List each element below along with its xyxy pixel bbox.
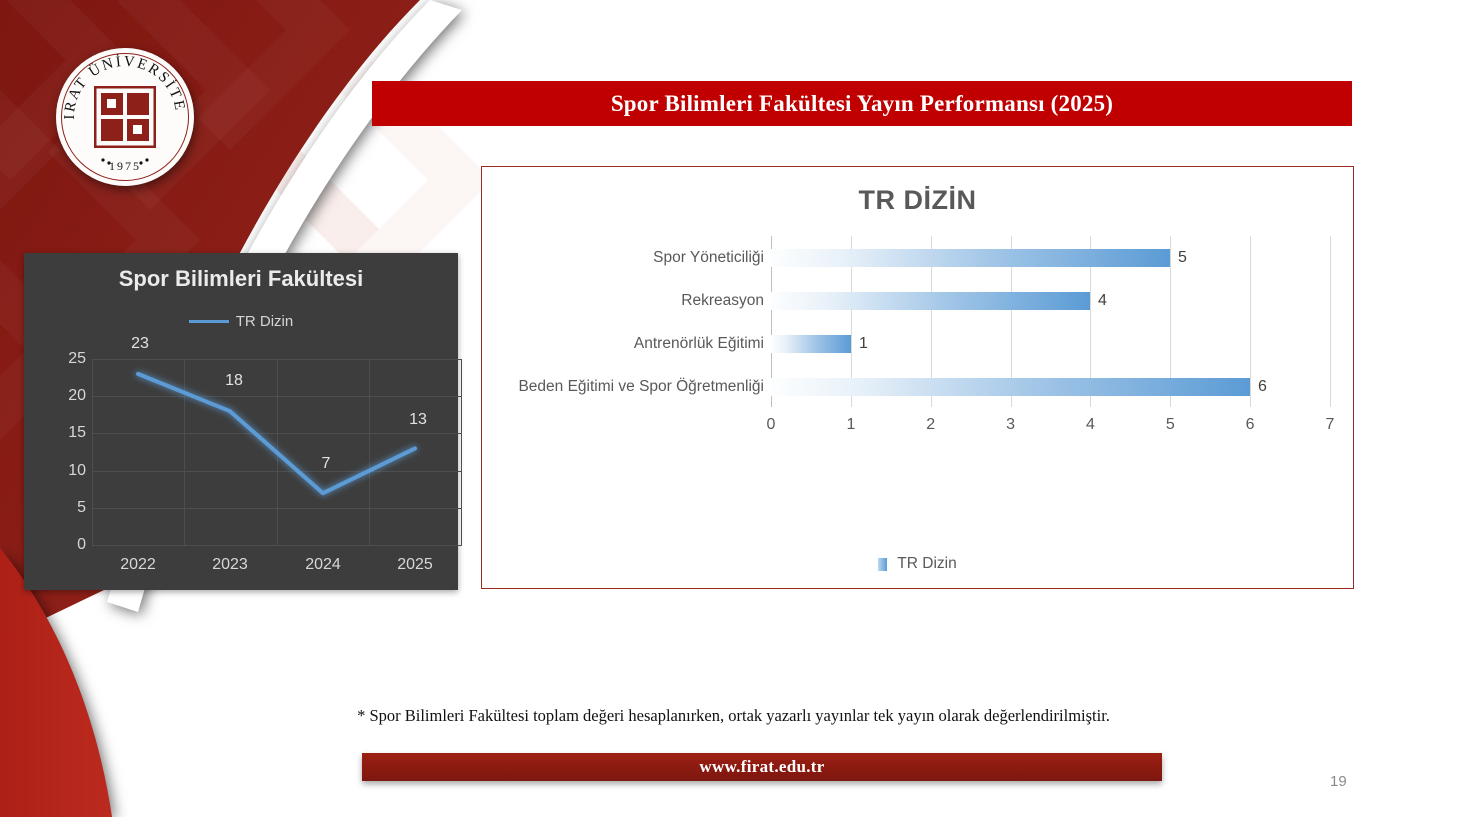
logo-year: 1975 xyxy=(56,159,194,174)
y-tick-label: 20 xyxy=(40,387,86,405)
x-tick-label: 0 xyxy=(751,416,791,434)
x-tick-label: 2025 xyxy=(370,556,460,574)
line-chart-card: Spor Bilimleri Fakültesi TR Dizin xyxy=(24,253,458,590)
bar-legend-swatch-icon xyxy=(878,558,887,571)
footer-bar: www.firat.edu.tr xyxy=(362,753,1162,781)
bar-rekreasyon xyxy=(771,292,1090,310)
slide-title-bar: Spor Bilimleri Fakültesi Yayın Performan… xyxy=(372,81,1352,126)
bar-chart-plot: 5 4 1 6 Spor Yöneticiliği Rekreasyon Ant… xyxy=(771,236,1330,407)
bar-chart-area: 5 4 1 6 Spor Yöneticiliği Rekreasyon Ant… xyxy=(482,167,1353,417)
university-logo: FIRAT ÜNİVERSİTESİ 1975 xyxy=(56,48,194,186)
logo-emblem-icon xyxy=(94,86,156,148)
x-tick-label: 6 xyxy=(1230,416,1270,434)
data-label: 4 xyxy=(1098,292,1107,310)
x-tick-label: 7 xyxy=(1310,416,1350,434)
page-title: Spor Bilimleri Fakültesi Yayın Performan… xyxy=(611,91,1113,117)
line-chart-series xyxy=(92,359,462,546)
footnote: * Spor Bilimleri Fakültesi toplam değeri… xyxy=(0,706,1467,726)
footer-url: www.firat.edu.tr xyxy=(699,757,824,777)
bar-spor-yoneticiligi xyxy=(771,249,1170,267)
line-chart-legend: TR Dizin xyxy=(24,313,458,330)
x-tick-label: 4 xyxy=(1070,416,1110,434)
bar-chart-legend: TR Dizin xyxy=(482,555,1353,573)
bar-antrenorluk-egitimi xyxy=(771,335,851,353)
data-label: 23 xyxy=(120,335,160,353)
category-label: Spor Yöneticiliği xyxy=(653,249,764,267)
data-label: 1 xyxy=(859,335,868,353)
data-label: 13 xyxy=(398,411,438,429)
y-tick-label: 0 xyxy=(40,536,86,554)
line-chart-title: Spor Bilimleri Fakültesi xyxy=(24,266,458,292)
category-label: Rekreasyon xyxy=(681,292,764,310)
y-tick-label: 15 xyxy=(40,424,86,442)
bar-legend-label: TR Dizin xyxy=(897,555,956,573)
x-tick-label: 2024 xyxy=(278,556,368,574)
data-label: 5 xyxy=(1178,249,1187,267)
x-tick-label: 1 xyxy=(831,416,871,434)
gridline-v xyxy=(1250,236,1251,407)
bar-beden-egitimi-ve-spor-ogretmenligi xyxy=(771,378,1250,396)
data-label: 18 xyxy=(214,372,254,390)
bar-chart-card: TR DİZİN 5 4 1 6 Spor Yöneticiliği Rekre… xyxy=(481,166,1354,589)
x-tick-label: 2022 xyxy=(93,556,183,574)
line-chart-plot: 25 20 15 10 5 0 2022 2023 2024 2025 23 1… xyxy=(92,359,462,546)
category-label: Antrenörlük Eğitimi xyxy=(634,335,764,353)
line-legend-label: TR Dizin xyxy=(236,313,294,330)
x-tick-label: 5 xyxy=(1150,416,1190,434)
category-label: Beden Eğitimi ve Spor Öğretmenliği xyxy=(518,378,764,396)
data-label: 6 xyxy=(1258,378,1267,396)
y-tick-label: 10 xyxy=(40,462,86,480)
data-label: 7 xyxy=(306,455,346,473)
page-number: 19 xyxy=(1330,773,1347,790)
x-tick-label: 3 xyxy=(991,416,1031,434)
x-tick-label: 2023 xyxy=(185,556,275,574)
gridline-v xyxy=(1330,236,1331,407)
line-legend-swatch-icon xyxy=(189,320,229,323)
x-tick-label: 2 xyxy=(911,416,951,434)
y-tick-label: 5 xyxy=(40,499,86,517)
y-tick-label: 25 xyxy=(40,350,86,368)
